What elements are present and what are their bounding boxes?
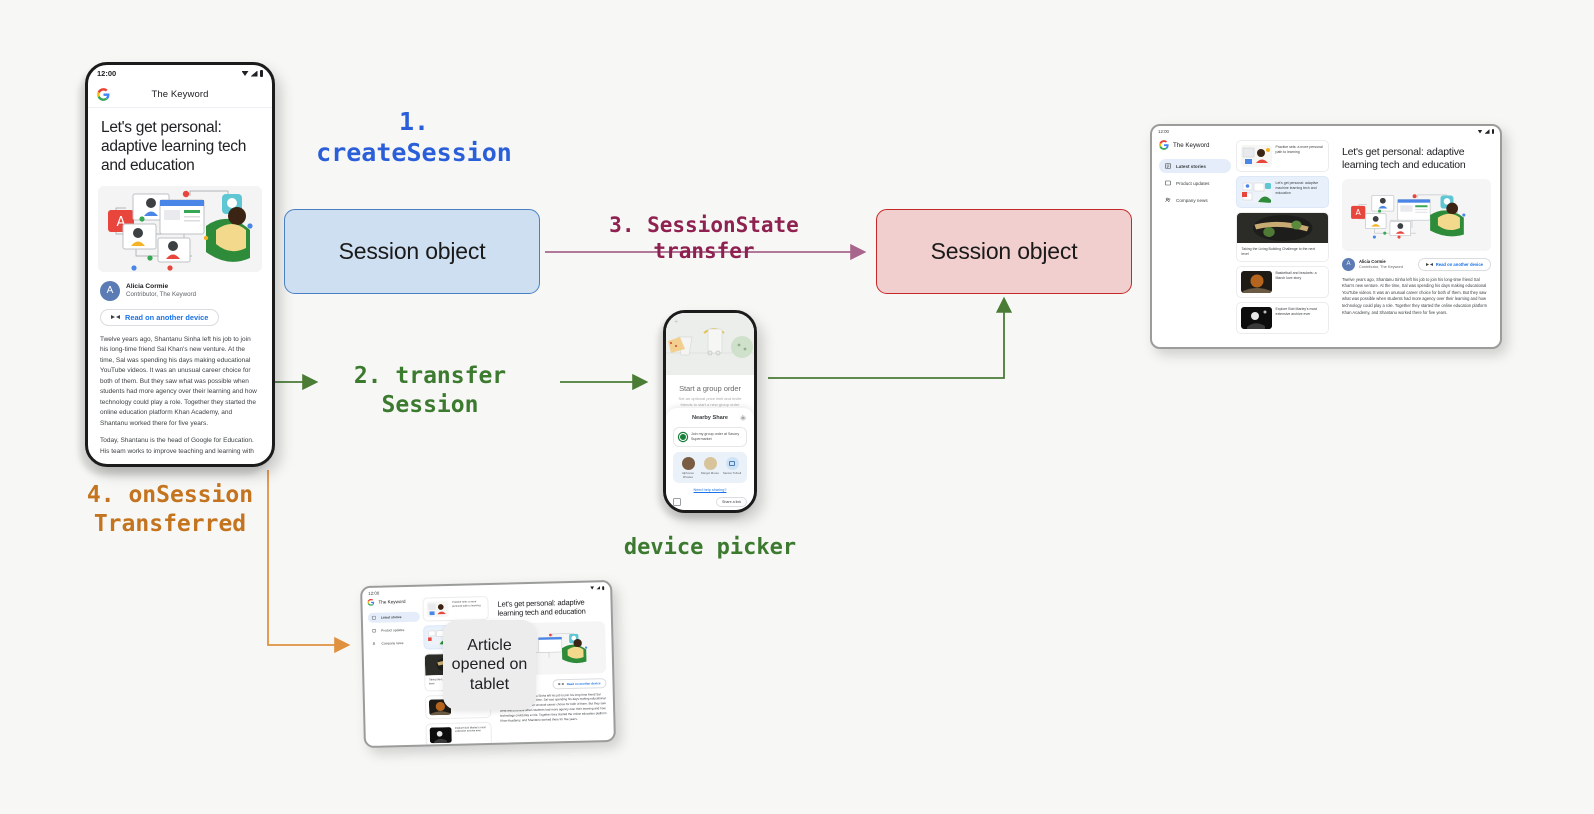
tablet-sidebar: The Keyword Latest stories Product updat…	[362, 587, 425, 746]
list-item[interactable]: Practice sets: a more personal path to l…	[1236, 140, 1329, 172]
nearby-device[interactable]: Alphonso Rhodes	[677, 457, 699, 479]
session-object-box-source: Session object	[284, 209, 540, 294]
list-item[interactable]: Let's get personal: adaptive machine lea…	[1236, 176, 1329, 208]
signal-icon	[251, 71, 258, 77]
article-hero-illustration: A	[1342, 179, 1491, 251]
tablet-icon	[726, 457, 739, 470]
list-item-title: Explore Bob Marley's most extensive arch…	[455, 726, 488, 734]
diagram-canvas: 12:00 The Keyword Let's get personal: ad…	[0, 0, 1594, 814]
google-logo-icon	[367, 599, 374, 606]
sidebar-item-product-updates[interactable]: Product updates	[368, 625, 420, 636]
sidebar-item-product-updates[interactable]: Product updates	[1159, 176, 1231, 190]
article-headline: Let's get personal: adaptive learning te…	[497, 597, 604, 618]
tablet-brand-label: The Keyword	[1173, 142, 1209, 149]
phone-statusbar: 12:00	[88, 65, 272, 82]
sidebar-item-latest-stories[interactable]: Latest stories	[1159, 159, 1231, 173]
list-item[interactable]: Basketball and brackets: a March love st…	[1236, 266, 1329, 298]
share-link-button[interactable]: Share a link	[716, 497, 747, 507]
thumbnail	[1241, 145, 1272, 167]
sidebar-item-company-news[interactable]: Company news	[368, 638, 420, 649]
article-icon	[372, 616, 376, 620]
qr-code-icon[interactable]	[673, 498, 681, 506]
tablet-sidebar: The Keyword Latest stories Product updat…	[1152, 126, 1236, 347]
sheet-header: Nearby Share	[673, 415, 747, 421]
read-button-label: Read on another device	[1436, 262, 1483, 267]
cast-transfer-icon	[1426, 262, 1433, 267]
label-device-picker: device picker	[590, 534, 830, 562]
sidebar-item-label: Company news	[381, 641, 403, 646]
nearby-device-list: Alphonso Rhodes Margot Moore Santos Tufn…	[673, 452, 747, 483]
read-on-another-device-button[interactable]: Read on another device	[100, 309, 219, 326]
bob-marley-thumb-icon	[429, 726, 451, 743]
read-button-label: Read on another device	[567, 681, 601, 686]
nearby-device[interactable]: Margot Moore	[699, 457, 721, 479]
nearby-device[interactable]: Santos Tufnell	[721, 457, 743, 479]
box-icon	[372, 629, 376, 633]
list-item-title: Basketball and brackets: a March love st…	[1276, 271, 1324, 281]
adaptive-learning-thumb-icon	[1241, 181, 1272, 203]
article-icon	[1165, 163, 1171, 169]
need-help-sharing-link[interactable]: Need help sharing?	[673, 488, 747, 492]
status-icons	[242, 70, 264, 77]
list-item[interactable]: Practice sets: a more personal path to l…	[422, 596, 489, 622]
box-icon	[1165, 180, 1171, 186]
battery-icon	[1492, 129, 1495, 134]
sheet-footer: Share a link	[673, 497, 747, 507]
gear-icon[interactable]	[740, 415, 746, 421]
picker-hero-subtitle: Set an optional price limit and invite f…	[666, 396, 754, 408]
read-button-label: Read on another device	[125, 313, 208, 322]
sheet-title: Nearby Share	[692, 415, 728, 421]
read-on-another-device-button[interactable]: Read on another device	[553, 678, 607, 689]
session-object-box-target: Session object	[876, 209, 1132, 294]
label-step1-create-session: 1. createSession	[286, 106, 542, 169]
thumbnail	[426, 601, 448, 618]
svg-text:+: +	[674, 319, 678, 325]
tablet-brand: The Keyword	[1159, 140, 1231, 150]
avatar	[704, 457, 717, 470]
phone-appbar: The Keyword	[88, 82, 272, 108]
thumbnail	[429, 726, 451, 743]
device-name: Santos Tufnell	[721, 472, 743, 475]
body-paragraph: Twelve years ago, Shantanu Sinha left hi…	[100, 335, 260, 430]
signal-icon	[596, 586, 600, 590]
device-name: Alphonso Rhodes	[677, 472, 699, 479]
signal-icon	[1485, 129, 1490, 134]
nearby-share-label: Join my group order at Savory Supermarke…	[691, 432, 741, 442]
basketball-thumb-icon	[1241, 271, 1272, 293]
thumbnail	[1241, 181, 1272, 203]
battery-icon	[602, 586, 604, 590]
thumbnail	[1241, 271, 1272, 293]
sidebar-item-label: Product updates	[381, 628, 404, 633]
avatar: A	[1342, 258, 1355, 271]
tablet-article-list: Practice sets: a more personal path to l…	[1236, 126, 1333, 347]
status-time: 12:00	[97, 69, 116, 78]
wifi-icon	[1478, 130, 1483, 134]
tablet-brand-label: The Keyword	[378, 599, 405, 605]
tablet-device-right: 12:00 The Keyword	[1150, 124, 1502, 349]
thumbnail	[1241, 307, 1272, 329]
bob-marley-thumb-icon	[1241, 307, 1272, 329]
sidebar-item-label: Company news	[1176, 198, 1208, 203]
sidebar-item-label: Latest stories	[1176, 164, 1206, 169]
list-item-title: Let's get personal: adaptive machine lea…	[1276, 181, 1324, 196]
sidebar-item-label: Product updates	[1176, 181, 1209, 186]
phone-app-title: The Keyword	[88, 89, 272, 100]
status-icons	[590, 586, 604, 590]
education-illustration-icon: A	[1342, 179, 1491, 251]
body-paragraph: Today, Shantanu is the head of Google fo…	[100, 436, 260, 457]
sidebar-item-latest-stories[interactable]: Latest stories	[368, 612, 420, 623]
svg-text:A: A	[1355, 208, 1361, 217]
list-item-title: Explore Bob Marley's most extensive arch…	[1276, 307, 1324, 317]
practice-sets-thumb-icon	[426, 601, 448, 618]
nearby-share-sheet: Nearby Share Join my group order at Savo…	[666, 408, 754, 510]
sidebar-item-label: Latest stories	[381, 615, 402, 620]
phone-hero-illustration: A	[98, 186, 262, 272]
list-item-title: Taking the Living Building Challenge to …	[1237, 243, 1328, 257]
read-on-another-device-button[interactable]: Read on another device	[1418, 258, 1491, 271]
article-headline: Let's get personal: adaptive learning te…	[1342, 146, 1491, 172]
wifi-icon	[242, 71, 249, 76]
picker-hero-title: Start a group order	[666, 384, 754, 393]
nearby-share-item[interactable]: Join my group order at Savory Supermarke…	[673, 427, 747, 447]
label-step2-transfer-session: 2. transfer Session	[320, 362, 540, 420]
cast-transfer-icon	[111, 314, 120, 320]
device-picker-phone: + Start a group order Set an optional pr…	[663, 310, 757, 513]
article-body: Twelve years ago, Shantanu Sinha left hi…	[1342, 277, 1491, 317]
status-icons	[1478, 129, 1495, 134]
practice-sets-thumb-icon	[1241, 145, 1272, 167]
author-name: Alicia Cormie	[126, 283, 196, 291]
google-logo-icon	[1159, 140, 1169, 150]
tablet-brand: The Keyword	[367, 598, 419, 606]
tooltip-article-opened-on-tablet: Article opened on tablet	[443, 620, 536, 710]
education-illustration-icon: A	[98, 186, 262, 272]
phone-article-body: Twelve years ago, Shantanu Sinha left hi…	[88, 326, 272, 458]
sidebar-item-company-news[interactable]: Company news	[1159, 193, 1231, 207]
device-name: Margot Moore	[699, 472, 721, 475]
cast-transfer-icon	[559, 682, 564, 686]
tablet-article-pane: Let's get personal: adaptive learning te…	[1333, 126, 1500, 347]
phone-byline: A Alicia Cormie Contributor, The Keyword	[88, 272, 272, 303]
living-building-thumb-icon	[1237, 213, 1328, 243]
article-byline: A Alicia Cormie Contributor, The Keyword…	[1342, 258, 1491, 271]
phone-article-headline: Let's get personal: adaptive learning te…	[88, 108, 272, 180]
avatar	[682, 457, 695, 470]
author-role: Contributor, The Keyword	[126, 291, 196, 299]
status-time: 12:00	[1158, 129, 1169, 134]
people-icon	[1165, 197, 1171, 203]
people-icon	[372, 642, 376, 646]
avatar: A	[100, 281, 120, 301]
battery-icon	[260, 70, 264, 77]
list-item[interactable]: Taking the Living Building Challenge to …	[1236, 212, 1329, 262]
tablet-statusbar: 12:00	[1152, 126, 1500, 137]
list-item[interactable]: Explore Bob Marley's most extensive arch…	[1236, 302, 1329, 334]
list-item-title: Practice sets: a more personal path to l…	[1276, 145, 1324, 155]
group-order-illustration-icon: +	[666, 313, 757, 375]
label-step3-sessionstate-transfer: 3. SessionState transfer	[554, 212, 854, 265]
wifi-icon	[590, 586, 594, 589]
phone-article-device: 12:00 The Keyword Let's get personal: ad…	[85, 62, 275, 467]
author-role: Contributor, The Keyword	[1359, 264, 1403, 269]
list-item[interactable]: Explore Bob Marley's most extensive arch…	[425, 721, 492, 747]
nearby-share-icon	[679, 433, 687, 441]
list-item-title: Practice sets: a more personal path to l…	[452, 600, 485, 608]
picker-hero-image: +	[666, 313, 754, 375]
thumbnail	[1237, 213, 1328, 243]
label-step4-on-session-transferred: 4. onSession Transferred	[50, 481, 290, 539]
status-time: 12:00	[368, 591, 379, 596]
